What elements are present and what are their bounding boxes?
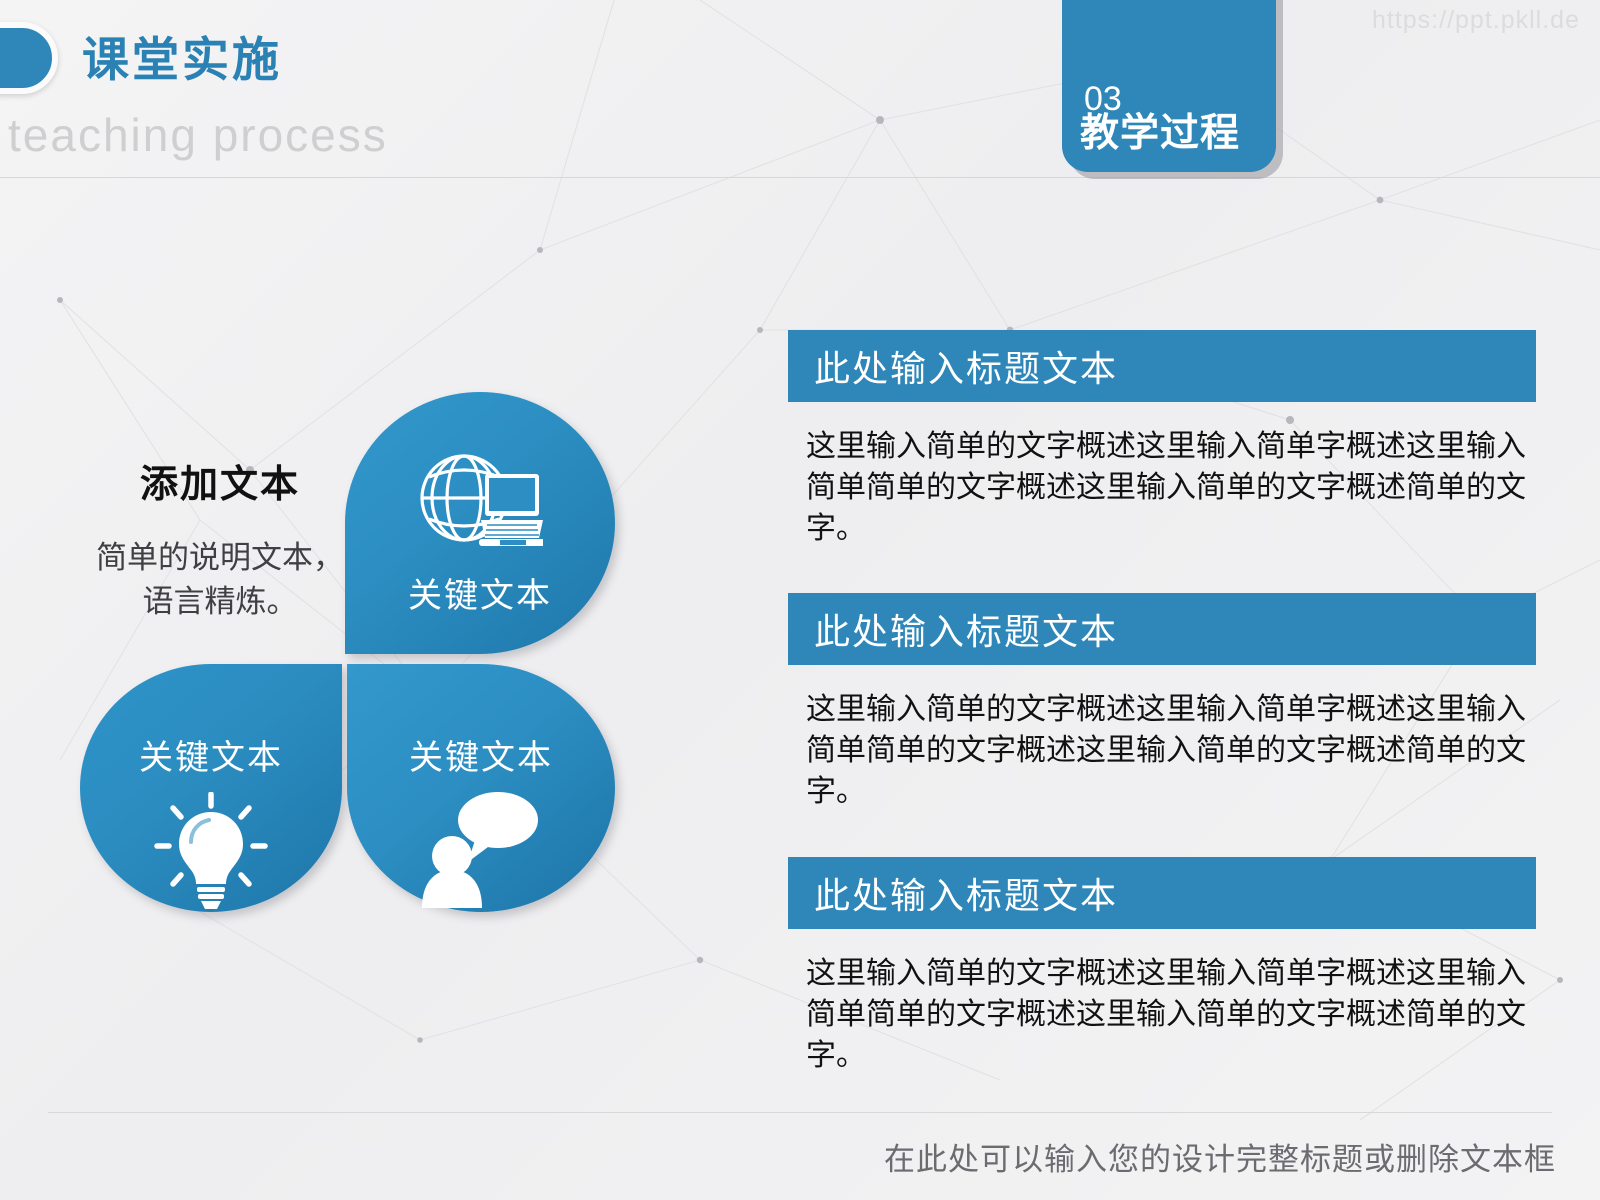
footer-text: 在此处可以输入您的设计完整标题或删除文本框 <box>884 1134 1556 1179</box>
header-accent-tab <box>0 22 58 94</box>
content-block: 此处输入标题文本 这里输入简单的文字概述这里输入简单字概述这里输入简单简单的文字… <box>788 330 1540 549</box>
content-block-body: 这里输入简单的文字概述这里输入简单字概述这里输入简单简单的文字概述这里输入简单的… <box>788 689 1526 812</box>
petal-label: 关键文本 <box>347 730 615 779</box>
petal-globe[interactable]: 关键文本 <box>345 392 615 654</box>
footer-divider <box>48 1112 1552 1113</box>
content-block: 此处输入标题文本 这里输入简单的文字概述这里输入简单字概述这里输入简单简单的文字… <box>788 593 1540 812</box>
petal-label: 关键文本 <box>345 568 615 617</box>
petal-diagram: 关键文本 <box>75 392 615 912</box>
section-name: 教学过程 <box>1080 114 1240 153</box>
page-title-en: teaching process <box>8 112 388 158</box>
content-block-title: 此处输入标题文本 <box>814 340 1118 392</box>
watermark-url: https://ppt.pkll.de <box>1372 6 1580 35</box>
content-block-body: 这里输入简单的文字概述这里输入简单字概述这里输入简单简单的文字概述这里输入简单的… <box>788 426 1526 549</box>
content-block-title-bar: 此处输入标题文本 <box>788 857 1536 929</box>
header-divider <box>0 177 1600 178</box>
petal-lightbulb[interactable]: 关键文本 <box>80 664 342 912</box>
section-badge: 03 教学过程 <box>1062 0 1276 172</box>
content-block: 此处输入标题文本 这里输入简单的文字概述这里输入简单字概述这里输入简单简单的文字… <box>788 857 1540 1076</box>
lightbulb-icon <box>153 792 269 910</box>
petal-label: 关键文本 <box>80 730 342 779</box>
page-title-cn: 课堂实施 <box>82 36 282 83</box>
person-speech-icon <box>420 790 542 908</box>
content-block-title: 此处输入标题文本 <box>814 603 1118 655</box>
section-number: 03 <box>1084 82 1122 116</box>
globe-laptop-icon <box>417 450 543 554</box>
content-block-title: 此处输入标题文本 <box>814 867 1118 919</box>
content-block-body: 这里输入简单的文字概述这里输入简单字概述这里输入简单简单的文字概述这里输入简单的… <box>788 953 1526 1076</box>
content-block-title-bar: 此处输入标题文本 <box>788 593 1536 665</box>
petal-speech[interactable]: 关键文本 <box>347 664 615 912</box>
content-block-title-bar: 此处输入标题文本 <box>788 330 1536 402</box>
content-block-list: 此处输入标题文本 这里输入简单的文字概述这里输入简单字概述这里输入简单简单的文字… <box>788 330 1540 1076</box>
slide-canvas: 课堂实施 teaching process 03 教学过程 https://pp… <box>0 0 1600 1200</box>
